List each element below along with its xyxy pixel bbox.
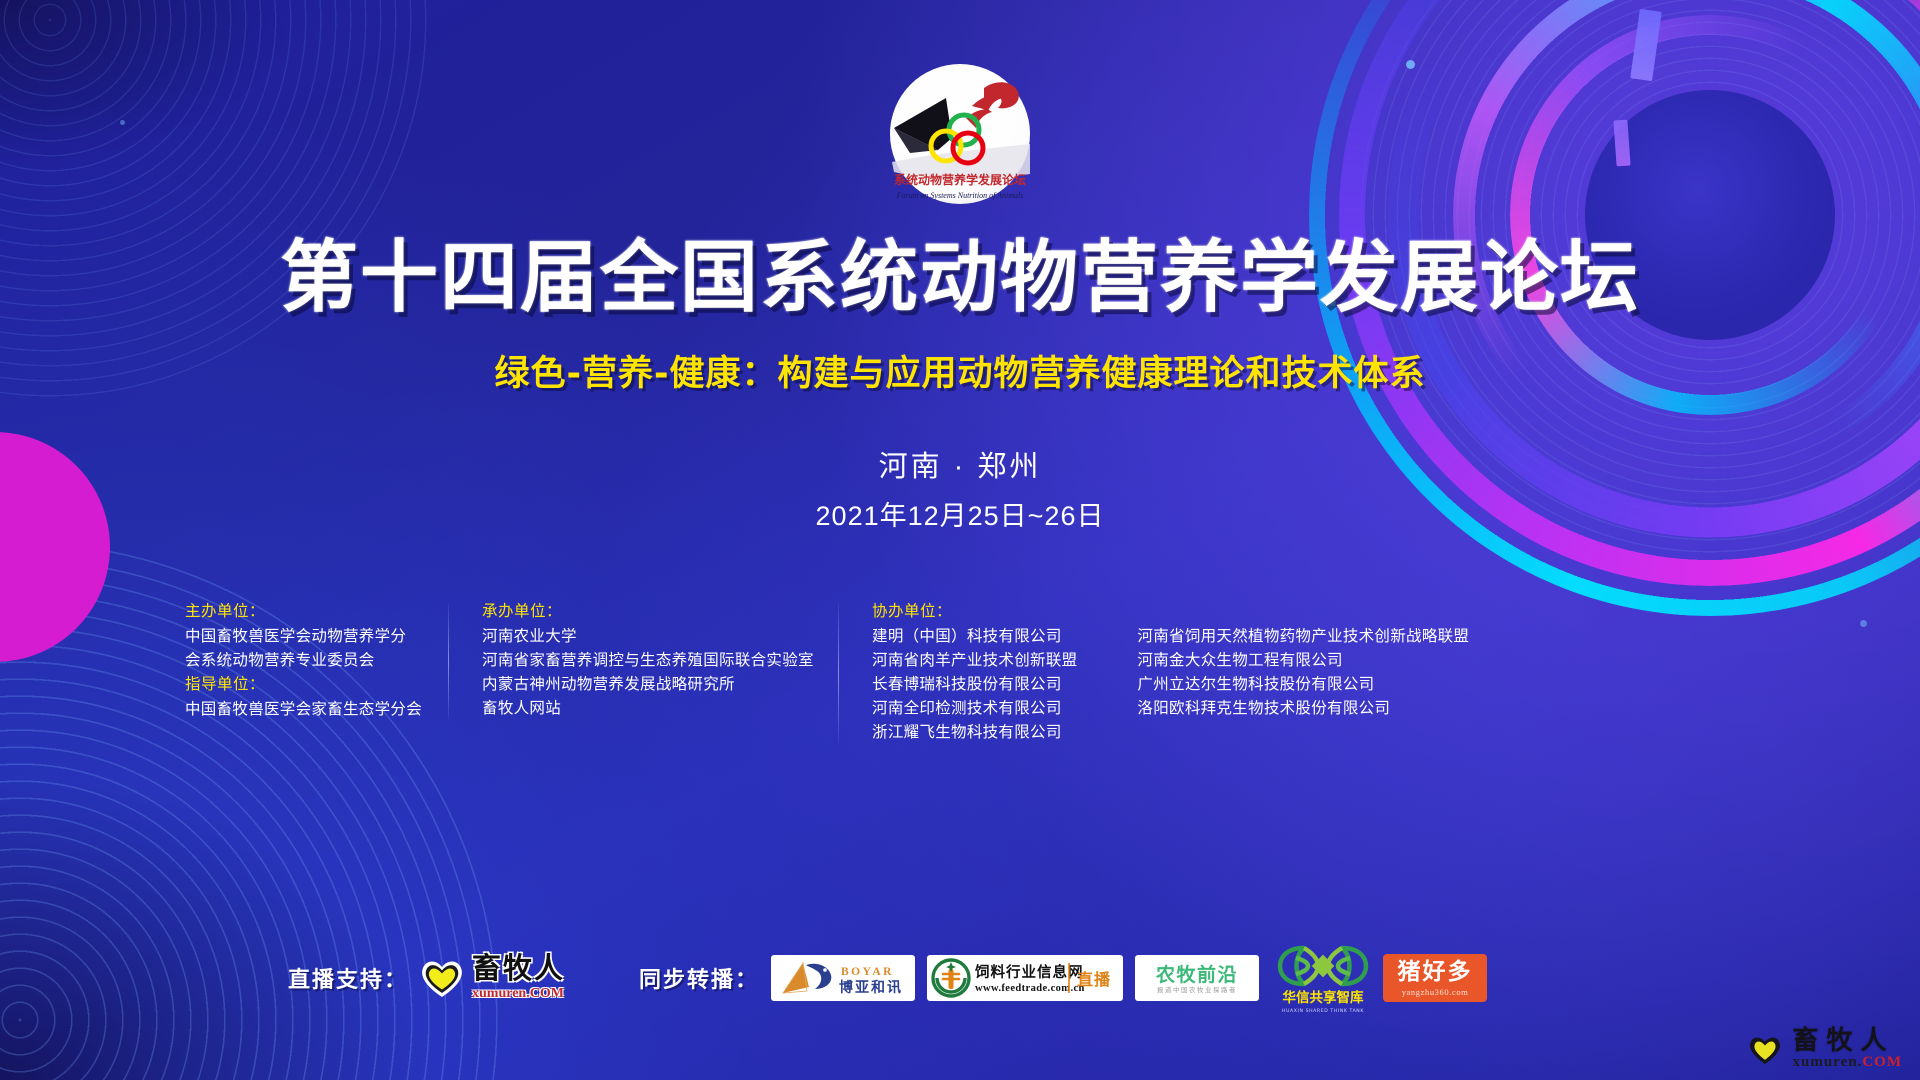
partner-logo-tag: 直播 bbox=[1077, 970, 1111, 989]
organizer-line: 浙江耀飞生物科技有限公司 bbox=[872, 721, 1077, 745]
organizer-heading: 主办单位： bbox=[185, 600, 422, 624]
poster-city: 河南 · 郑州 bbox=[0, 443, 1920, 485]
organizer-line: 畜牧人网站 bbox=[482, 697, 812, 721]
partner-logo-cn: 饲料行业信息网 bbox=[974, 963, 1084, 981]
poster-subtitle: 绿色-营养-健康：构建与应用动物营养健康理论和技术体系 bbox=[0, 345, 1920, 396]
organizer-line: 广州立达尔生物科技股份有限公司 bbox=[1137, 673, 1469, 697]
emblem-en-text: Forum on Systems Nutrition of Animals bbox=[896, 191, 1024, 200]
organizer-heading: 承办单位： bbox=[482, 600, 812, 624]
partner-logo-feedtrade[interactable]: 饲料行业信息网 www.feedtrade.com.cn 直播 bbox=[927, 955, 1123, 1001]
organizer-column-host: 主办单位： 中国畜牧兽医学会动物营养学分 会系统动物营养专业委员会 指导单位： … bbox=[185, 600, 448, 722]
watermark-en-domain: xumuren. bbox=[1793, 1054, 1863, 1070]
organizer-line: 河南省家畜营养调控与生态养殖国际联合实验室 bbox=[482, 649, 812, 673]
live-support-label: 直播支持： bbox=[288, 962, 408, 994]
organizer-line: 河南农业大学 bbox=[482, 625, 812, 649]
partner-strip: 直播支持： 畜牧人 xumuren.COM 同步转播： bbox=[0, 940, 1920, 1016]
partner-logo-boyar[interactable]: BOYAR 博亚和讯 bbox=[771, 955, 915, 1001]
organizer-line: 洛阳欧科拜克生物技术股份有限公司 bbox=[1137, 697, 1469, 721]
partner-logo-cn: 猪好多 bbox=[1398, 960, 1473, 983]
partner-logo-en: BOYAR bbox=[841, 966, 894, 978]
partner-logo-en: HUAXIN SHARED THINK TANK bbox=[1282, 1008, 1364, 1014]
partner-logo-cn: 华信共享智库 bbox=[1283, 989, 1364, 1006]
partner-logo-nongmuqianyan[interactable]: 农牧前沿 报道中国农牧业探路者 bbox=[1135, 955, 1259, 1001]
organizer-heading: 指导单位： bbox=[185, 673, 422, 697]
organizer-line: 河南金大众生物工程有限公司 bbox=[1137, 649, 1469, 673]
organizer-column-coorganizer-left: 协办单位： 建明（中国）科技有限公司 河南省肉羊产业技术创新联盟 长春博瑞科技股… bbox=[838, 600, 1103, 745]
organizer-column-undertaker: 承办单位： 河南农业大学 河南省家畜营养调控与生态养殖国际联合实验室 内蒙古神州… bbox=[448, 600, 838, 721]
watermark-cn: 畜牧人 bbox=[1793, 1027, 1903, 1053]
heart-icon bbox=[418, 956, 466, 1000]
organizer-column-coorganizer-right: 河南省饲用天然植物药物产业技术创新战略联盟 河南金大众生物工程有限公司 广州立达… bbox=[1103, 600, 1495, 721]
conference-poster: 系统动物营养学发展论坛 Forum on Systems Nutrition o… bbox=[0, 0, 1920, 1080]
forum-emblem: 系统动物营养学发展论坛 Forum on Systems Nutrition o… bbox=[880, 58, 1040, 218]
partner-logo-cn: 农牧前沿 bbox=[1155, 963, 1238, 986]
organizer-block: 主办单位： 中国畜牧兽医学会动物营养学分 会系统动物营养专业委员会 指导单位： … bbox=[185, 600, 1435, 745]
heart-icon bbox=[1745, 1030, 1785, 1068]
partner-logo-yangzhu360[interactable]: 猪好多 yangzhu360.com bbox=[1383, 954, 1487, 1002]
watermark-en-tld: COM bbox=[1862, 1054, 1902, 1070]
column-divider bbox=[838, 604, 839, 743]
partner-logo-xumuren[interactable]: 畜牧人 xumuren.COM bbox=[418, 955, 565, 1001]
organizer-line: 建明（中国）科技有限公司 bbox=[872, 625, 1077, 649]
partner-logo-huaxin[interactable]: 华信共享智库 HUAXIN SHARED THINK TANK bbox=[1273, 940, 1373, 1016]
partner-logo-en: yangzhu360.com bbox=[1402, 987, 1469, 997]
organizer-line: 中国畜牧兽医学会动物营养学分 bbox=[185, 625, 422, 649]
poster-date: 2021年12月25日~26日 bbox=[0, 494, 1920, 533]
organizer-line: 长春博瑞科技股份有限公司 bbox=[872, 673, 1077, 697]
organizer-line: 中国畜牧兽医学会家畜生态学分会 bbox=[185, 698, 422, 722]
watermark-xumuren: 畜牧人 xumuren.COM bbox=[1745, 1027, 1903, 1070]
partner-logo-cn: 畜牧人 bbox=[472, 955, 565, 984]
organizer-line: 河南省饲用天然植物药物产业技术创新战略联盟 bbox=[1137, 625, 1469, 649]
partner-logo-en: xumuren.COM bbox=[472, 987, 565, 1001]
organizer-line: 内蒙古神州动物营养发展战略研究所 bbox=[482, 673, 812, 697]
emblem-cn-text: 系统动物营养学发展论坛 bbox=[894, 172, 1026, 187]
organizer-heading: 协办单位： bbox=[872, 600, 1077, 624]
poster-main-title: 第十四届全国系统动物营养学发展论坛 bbox=[0, 215, 1920, 327]
organizer-line: 河南全印检测技术有限公司 bbox=[872, 697, 1077, 721]
relay-broadcast-label: 同步转播： bbox=[639, 962, 759, 994]
column-divider bbox=[448, 604, 449, 719]
organizer-line: 会系统动物营养专业委员会 bbox=[185, 649, 422, 673]
partner-logo-en: 报道中国农牧业探路者 bbox=[1157, 985, 1237, 994]
organizer-line: 河南省肉羊产业技术创新联盟 bbox=[872, 649, 1077, 673]
partner-logo-cn: 博亚和讯 bbox=[839, 979, 903, 996]
organizer-heading bbox=[1137, 600, 1469, 624]
